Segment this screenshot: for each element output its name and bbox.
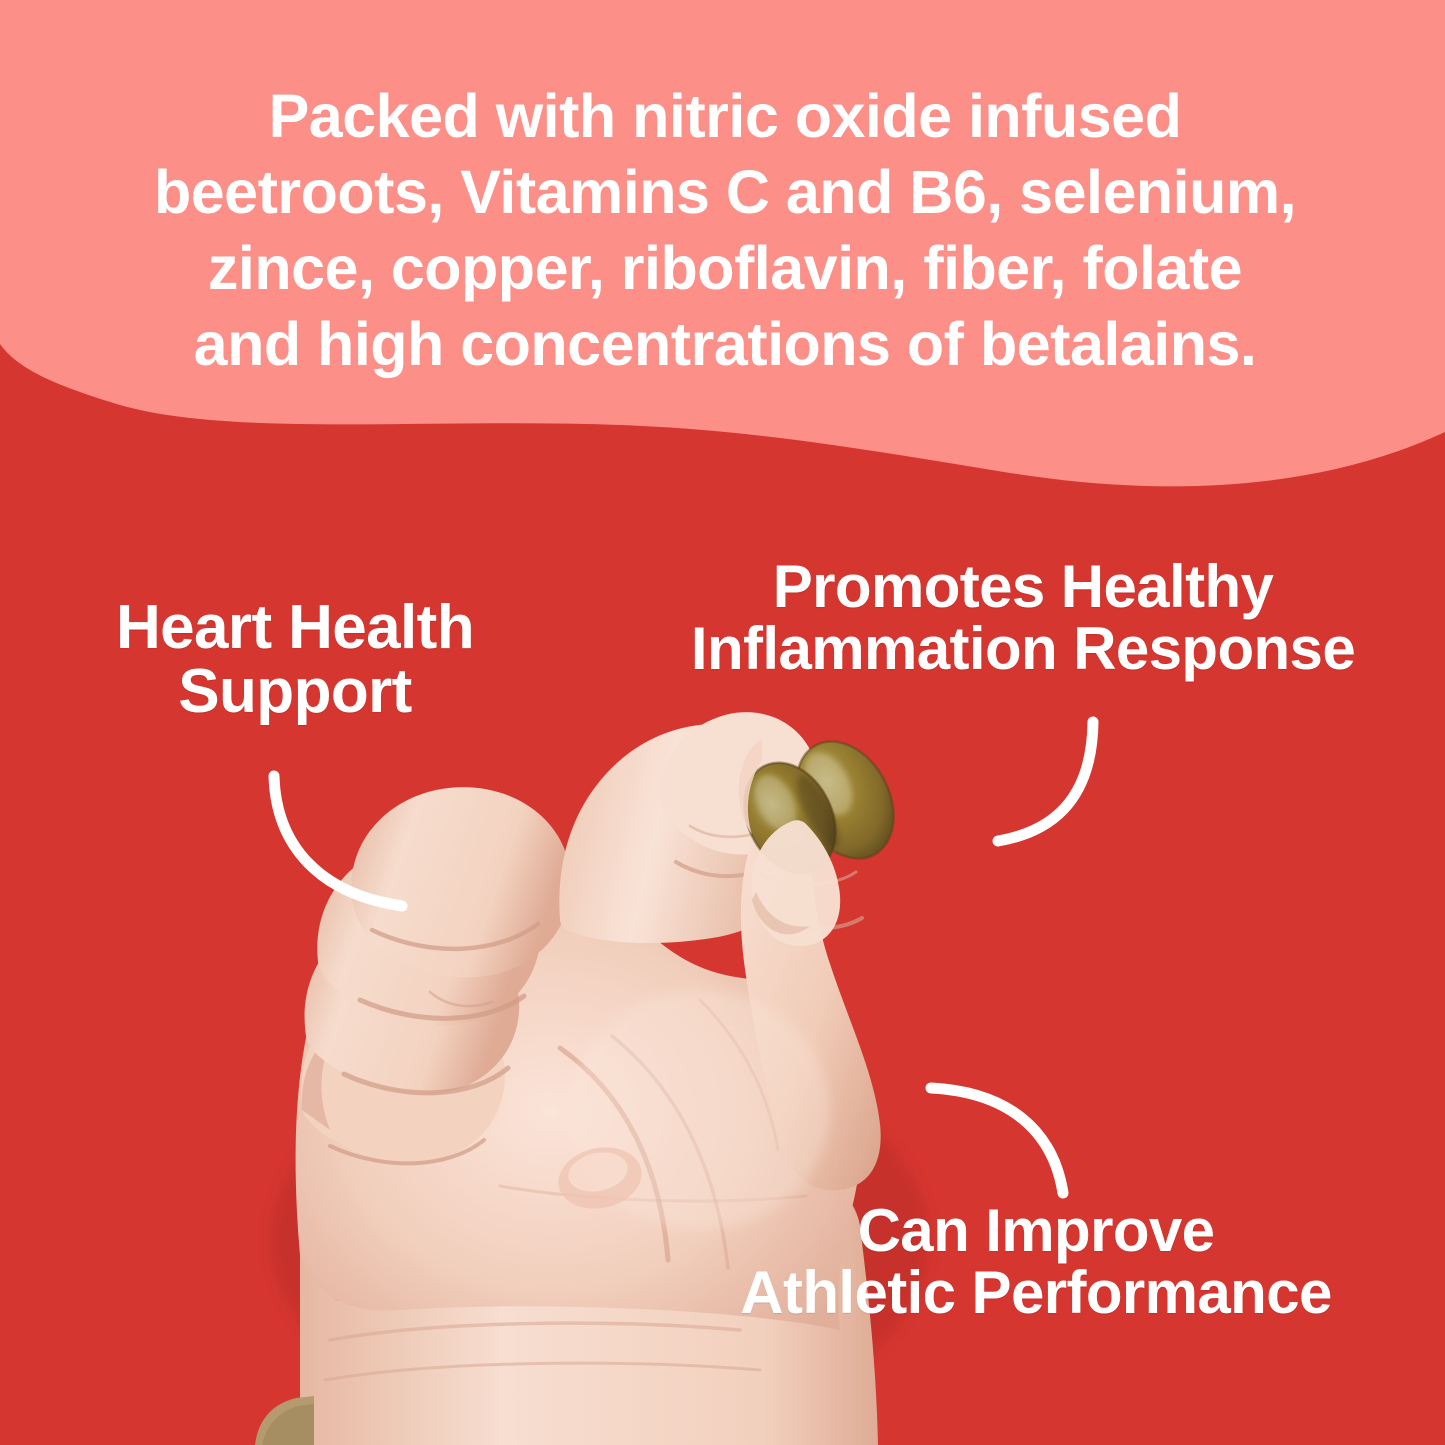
- callout-inflammation-response: Promotes Healthy Inflammation Response: [600, 556, 1445, 681]
- callout-heart-health: Heart Health Support: [60, 596, 530, 725]
- callout-athletic-performance: Can Improve Athletic Performance: [630, 1200, 1442, 1325]
- marketing-image: Packed with nitric oxide infused beetroo…: [0, 0, 1445, 1445]
- ingredients-headline: Packed with nitric oxide infused beetroo…: [110, 78, 1340, 382]
